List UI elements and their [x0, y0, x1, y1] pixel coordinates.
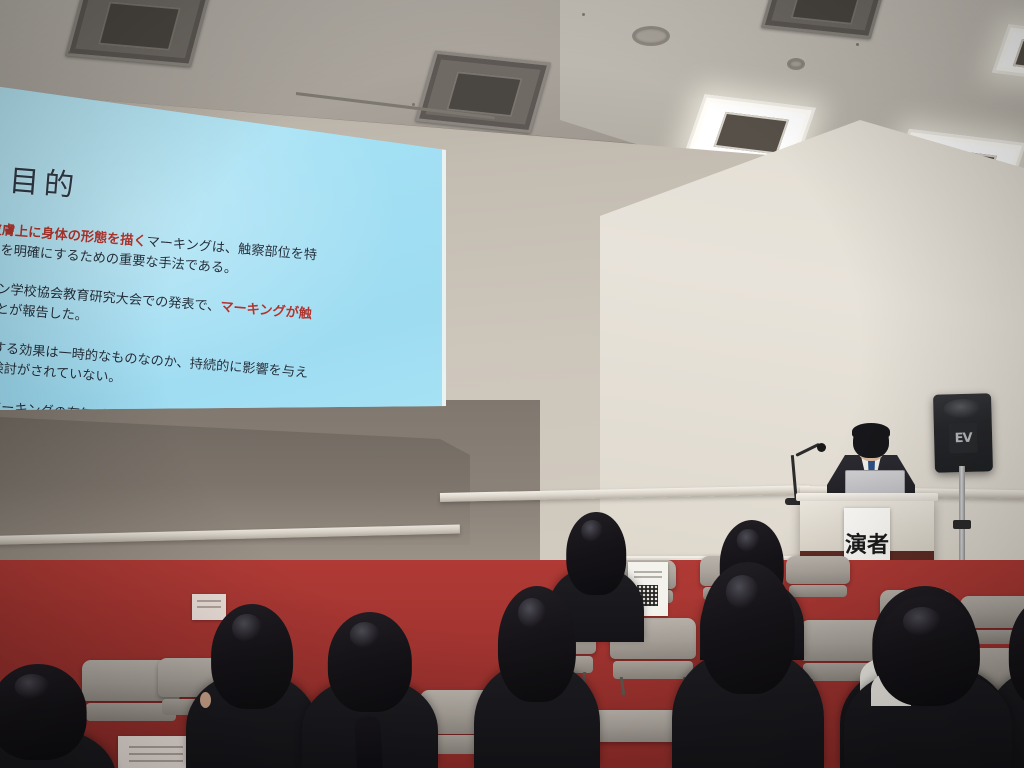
- audience-head: [211, 604, 293, 709]
- hair-sheen: [903, 607, 940, 636]
- ceiling-light-inner: [714, 112, 789, 154]
- ceiling-dot: [856, 43, 859, 46]
- ceiling-light-inner: [446, 71, 523, 118]
- audience-ponytail: [354, 715, 384, 768]
- audience-head: [328, 612, 412, 712]
- audience-head: [701, 562, 795, 694]
- pa-speaker-cabinet: EV: [933, 393, 993, 472]
- handout-line: [197, 600, 221, 602]
- microphone-icon: [817, 443, 826, 452]
- conference-photo-scene: 景と目的 育において皮膚上に身体の形態を描くマーキングは、触察部位を特 組織との…: [0, 0, 1024, 768]
- handout-line: [129, 753, 184, 755]
- hair-sheen: [350, 622, 380, 648]
- audience-ear: [200, 692, 211, 708]
- audience-member: [186, 604, 318, 768]
- ceiling-light-fixture: [65, 0, 210, 67]
- ceiling-dot: [582, 13, 585, 16]
- hair-sheen: [582, 520, 603, 542]
- audience-head: [498, 586, 576, 702]
- ceiling-light-inner: [1013, 39, 1024, 72]
- audience-member: [302, 612, 438, 768]
- handout-line: [129, 746, 184, 748]
- audience-member: [0, 664, 116, 768]
- handout-line: [129, 760, 184, 762]
- handout-paper: [118, 736, 194, 768]
- presenter-hair: [852, 423, 890, 440]
- slide-title: 景と目的: [0, 150, 81, 205]
- ceiling-dot: [68, 51, 71, 54]
- ceiling-sprinkler-icon: [787, 58, 805, 70]
- hair-sheen: [15, 674, 50, 699]
- podium-top-edge: [796, 493, 938, 501]
- audience-member: [474, 586, 600, 768]
- ceiling-light-inner: [98, 2, 180, 51]
- hair-sheen: [737, 529, 760, 552]
- audience-member: [672, 562, 824, 768]
- hair-sheen: [725, 575, 759, 609]
- pa-speaker-driver: [943, 399, 981, 419]
- audience-head: [876, 596, 980, 706]
- ceiling-light-fixture: [415, 51, 551, 133]
- audience-head: [566, 512, 626, 595]
- audience-member: [844, 596, 1012, 768]
- pa-speaker-brand-logo: EV: [949, 423, 978, 454]
- hair-sheen: [232, 614, 261, 641]
- audience-head: [0, 664, 86, 760]
- hair-sheen: [518, 598, 546, 628]
- slide-highlight: マーキングが触: [220, 300, 313, 322]
- slide-body: 育において皮膚上に身体の形態を描くマーキングは、触察部位を特 組織との境界を明確…: [0, 215, 442, 430]
- pa-speaker-clamp: [953, 520, 971, 529]
- screen-right-edge: [442, 144, 446, 410]
- slide-paragraph-1: 育において皮膚上に身体の形態を描くマーキングは、触察部位を特 組織との境界を明確…: [0, 215, 442, 297]
- ceiling-sensor-icon: [632, 26, 670, 46]
- ceiling-light-inner: [790, 0, 862, 25]
